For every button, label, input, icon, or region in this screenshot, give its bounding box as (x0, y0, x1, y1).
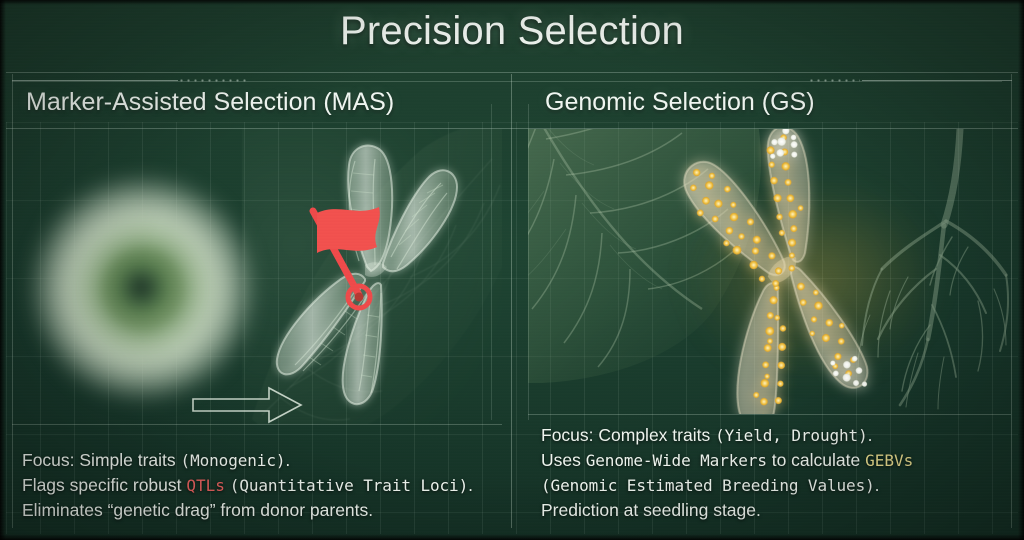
divider-right-bottom (528, 414, 1011, 415)
gs-illustration (528, 129, 1012, 414)
mas-illustration (13, 129, 502, 424)
frame-rule-right (1011, 74, 1012, 528)
description-line: Eliminates “genetic drag” from donor par… (22, 498, 473, 523)
description-line: Flags specific robust QTLs (Quantitative… (22, 473, 473, 498)
text-segment: . (868, 425, 873, 445)
letterbox-top (0, 0, 1024, 5)
divider-left-bottom (12, 424, 502, 425)
text-segment: Prediction at seedling stage. (541, 500, 761, 520)
text-segment: (Monogenic) (181, 451, 286, 470)
description-line: Prediction at seedling stage. (541, 498, 913, 523)
text-segment: to calculate (767, 450, 865, 470)
tick-dots-right (808, 79, 860, 82)
text-segment: Focus: Simple traits (22, 450, 181, 470)
text-segment: (Quantitative Trait Loci) (230, 476, 468, 495)
panel-header-gs: Genomic Selection (GS) (545, 88, 815, 117)
tick-dots-left (178, 79, 246, 82)
text-segment: Focus: Complex traits (541, 425, 715, 445)
tick-solid-right (862, 80, 1012, 81)
letterbox-right (1018, 0, 1024, 540)
golden-marker-chromosome (640, 129, 930, 414)
mas-description: Focus: Simple traits (Monogenic).Flags s… (22, 448, 473, 523)
tick-solid-left (12, 80, 178, 81)
text-segment: (Yield, Drought) (715, 426, 868, 445)
infographic-canvas: Precision Selection Marker-Assisted Sele… (0, 0, 1024, 540)
text-segment: . (468, 475, 473, 495)
red-flag-marker-icon (295, 201, 405, 321)
frame-rule-left-panel (491, 104, 492, 420)
divider-under-headers (6, 128, 1018, 129)
description-line: Uses Genome-Wide Markers to calculate GE… (541, 448, 913, 473)
divider-top (6, 72, 1018, 73)
frame-rule-left (12, 74, 13, 528)
text-segment: Eliminates “genetic drag” from donor par… (22, 500, 373, 520)
panel-header-mas: Marker-Assisted Selection (MAS) (26, 88, 394, 117)
gs-description: Focus: Complex traits (Yield, Drought).U… (541, 423, 913, 523)
seed-core (105, 251, 181, 327)
letterbox-bottom (0, 534, 1024, 540)
process-arrow-icon (191, 385, 303, 424)
text-segment: Genome-Wide Markers (586, 451, 767, 470)
page-title: Precision Selection (0, 9, 1024, 54)
text-segment: (Genomic Estimated Breeding Values) (541, 476, 875, 495)
accent-term-gebvs: GEBVs (865, 451, 913, 470)
letterbox-left (0, 0, 6, 540)
description-line: Focus: Complex traits (Yield, Drought). (541, 423, 913, 448)
frame-rule-right-panel (528, 104, 529, 420)
text-segment: Uses (541, 450, 586, 470)
text-segment: . (875, 475, 880, 495)
description-line: (Genomic Estimated Breeding Values). (541, 473, 913, 498)
panel-divider (511, 74, 512, 528)
description-line: Focus: Simple traits (Monogenic). (22, 448, 473, 473)
text-segment: Flags specific robust (22, 475, 186, 495)
text-segment: . (285, 450, 290, 470)
accent-term-qtls: QTLs (186, 476, 225, 495)
